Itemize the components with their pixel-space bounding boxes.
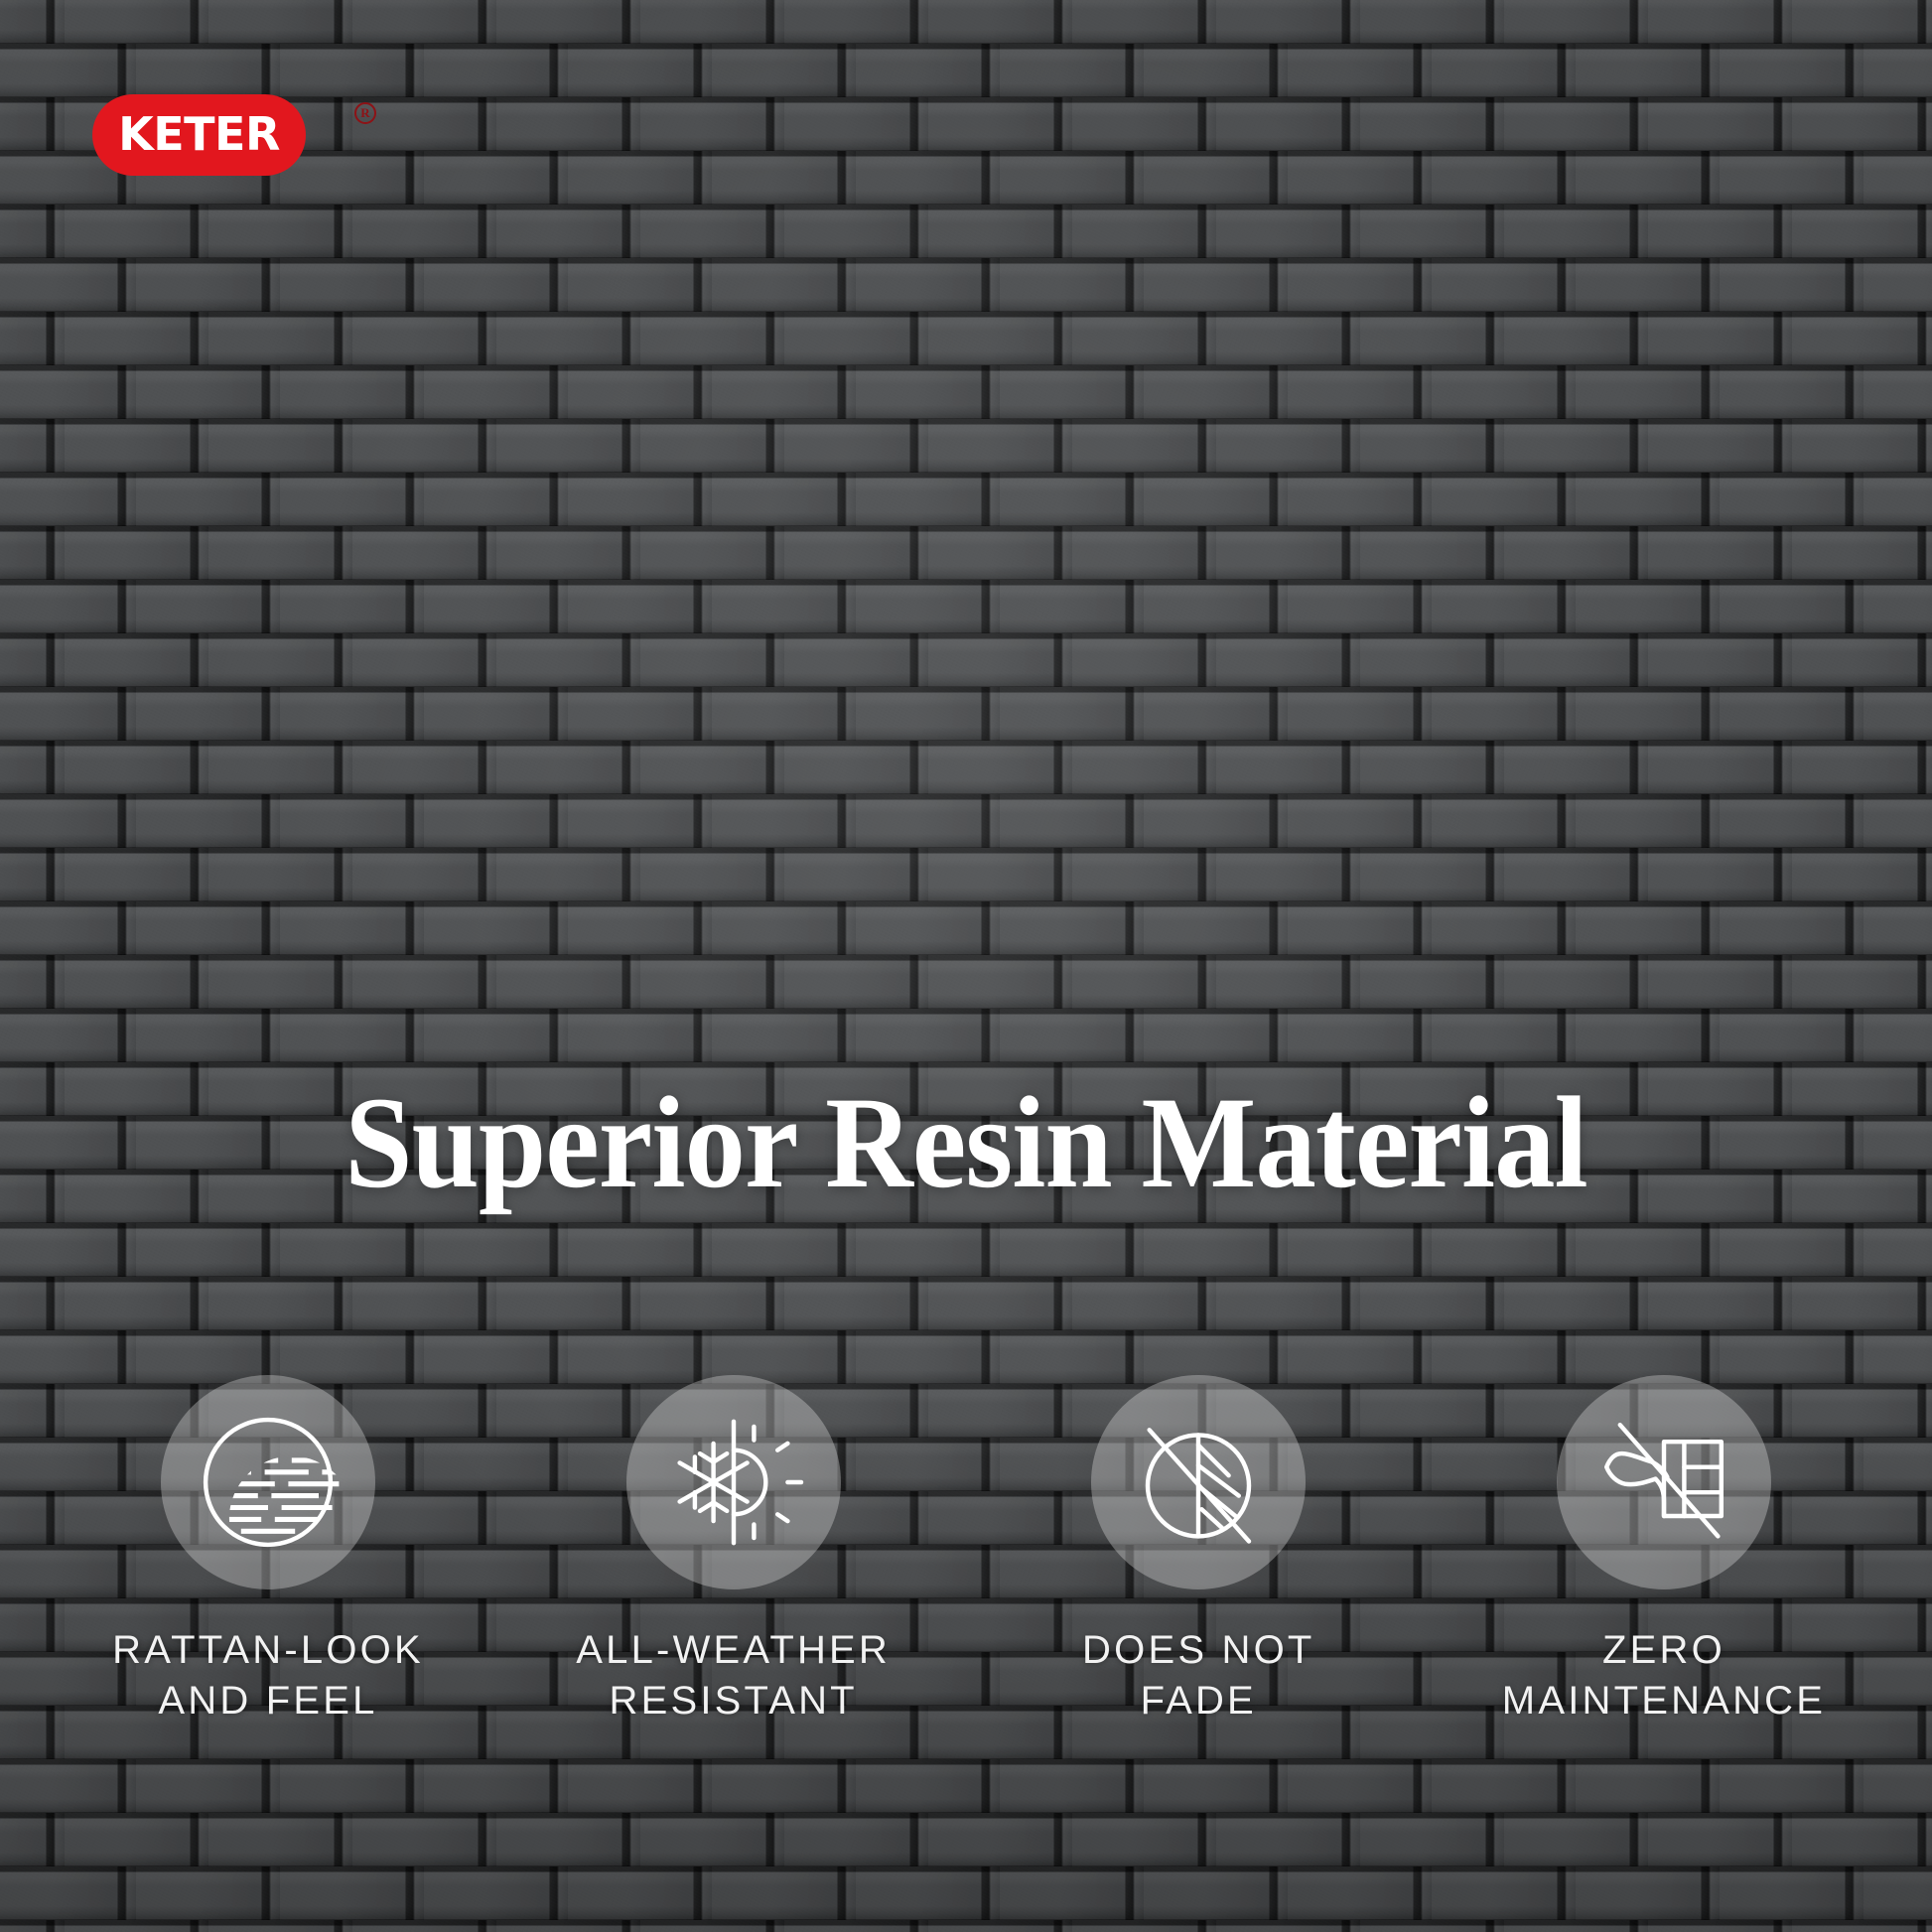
feature-badge: [1091, 1375, 1306, 1589]
logo-pill: KETER: [92, 94, 306, 176]
promo-image: KETER R Superior Resin Material: [0, 0, 1932, 1932]
feature-caption-line1: ALL-WEATHER: [576, 1628, 891, 1672]
feature-caption-line2: FADE: [1082, 1676, 1315, 1726]
feature-caption-line2: RESISTANT: [576, 1676, 891, 1726]
feature-caption-line1: RATTAN-LOOK: [112, 1628, 424, 1672]
page-title: Superior Resin Material: [68, 1077, 1864, 1208]
feature-item-all-weather: ALL-WEATHER RESISTANT: [525, 1375, 942, 1726]
paintbrush-crossed-out-icon: [1580, 1398, 1748, 1567]
feature-caption-line2: AND FEEL: [112, 1676, 424, 1726]
feature-caption-line1: DOES NOT: [1082, 1628, 1315, 1672]
rattan-weave-icon: [184, 1398, 352, 1567]
feature-badge: [1557, 1375, 1771, 1589]
feature-list: RATTAN-LOOK AND FEEL: [60, 1375, 1872, 1726]
feature-item-does-not-fade: DOES NOT FADE: [990, 1375, 1407, 1726]
feature-caption-line2: MAINTENANCE: [1502, 1676, 1826, 1726]
snowflake-sun-icon: [649, 1398, 818, 1567]
registered-trademark-icon: R: [354, 102, 376, 124]
feature-caption: ZERO MAINTENANCE: [1502, 1625, 1826, 1726]
feature-item-zero-maintenance: ZERO MAINTENANCE: [1455, 1375, 1872, 1726]
feature-caption-line1: ZERO: [1602, 1628, 1725, 1672]
keter-logo: KETER R: [92, 94, 306, 176]
logo-wordmark: KETER: [118, 111, 280, 157]
feature-caption: RATTAN-LOOK AND FEEL: [112, 1625, 424, 1726]
feature-item-rattan-look: RATTAN-LOOK AND FEEL: [60, 1375, 477, 1726]
feature-badge: [626, 1375, 841, 1589]
feature-badge: [161, 1375, 375, 1589]
feature-caption: DOES NOT FADE: [1082, 1625, 1315, 1726]
leaf-crossed-out-icon: [1114, 1398, 1283, 1567]
feature-caption: ALL-WEATHER RESISTANT: [576, 1625, 891, 1726]
